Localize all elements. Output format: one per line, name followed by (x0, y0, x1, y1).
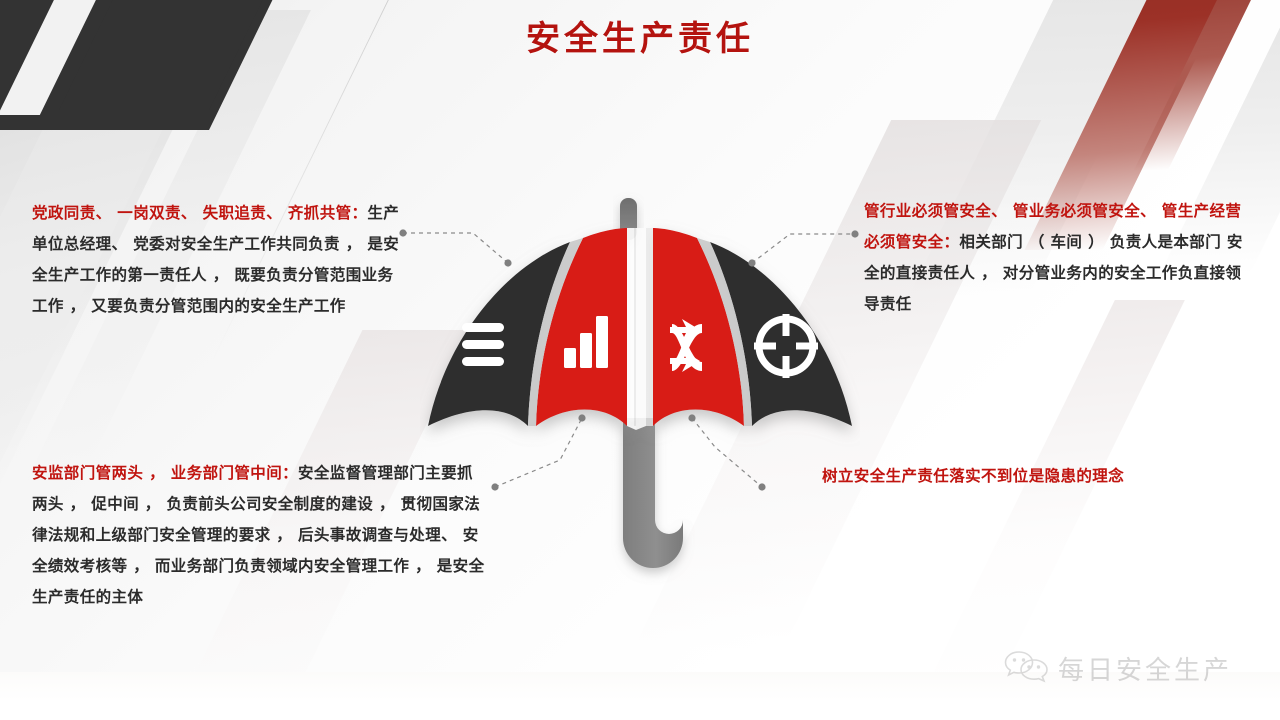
wechat-icon (1004, 649, 1048, 688)
callout-bottom-right: 树立安全生产责任落实不到位是隐患的理念 (822, 463, 1222, 489)
connector-top-right (752, 234, 855, 263)
callout-top-left: 党政同责、 一岗双责、 失职追责、 齐抓共管：生产单位总经理、 党委对安全生产工… (32, 198, 402, 322)
connector-bottom-left (495, 418, 582, 487)
page-title: 安全生产责任 (526, 11, 754, 60)
callout-top-left-separator: ： (352, 204, 368, 222)
callout-bottom-right-highlight: 树立安全生产责任落实不到位是隐患的理念 (822, 467, 1124, 485)
callout-bottom-left-body: 安全监督管理部门主要抓两头 ， 促中间 ， 负责前头公司安全制度的建设 ， 贯彻… (32, 464, 485, 606)
callout-bottom-left: 安监部门管两头 ， 业务部门管中间：安全监督管理部门主要抓两头 ， 促中间 ， … (32, 458, 487, 613)
callout-top-right: 管行业必须管安全、 管业务必须管安全、 管生产经营必须管安全：相关部门 （ 车间… (864, 196, 1256, 320)
slide-canvas: 安全生产责任 (0, 0, 1280, 720)
header-bar: 安全生产责任 (0, 0, 1280, 70)
callout-top-left-highlight: 党政同责、 一岗双责、 失职追责、 齐抓共管 (32, 204, 352, 222)
connector-bottom-right (692, 418, 762, 487)
callout-top-right-separator: ： (944, 233, 960, 251)
callout-bottom-left-highlight: 安监部门管两头 ， 业务部门管中间 (32, 464, 282, 482)
watermark: 每日安全生产 (1004, 649, 1232, 688)
callout-bottom-left-separator: ： (282, 464, 298, 482)
connector-dots (399, 229, 858, 490)
connector-top-left (403, 233, 508, 263)
watermark-text: 每日安全生产 (1058, 650, 1232, 687)
